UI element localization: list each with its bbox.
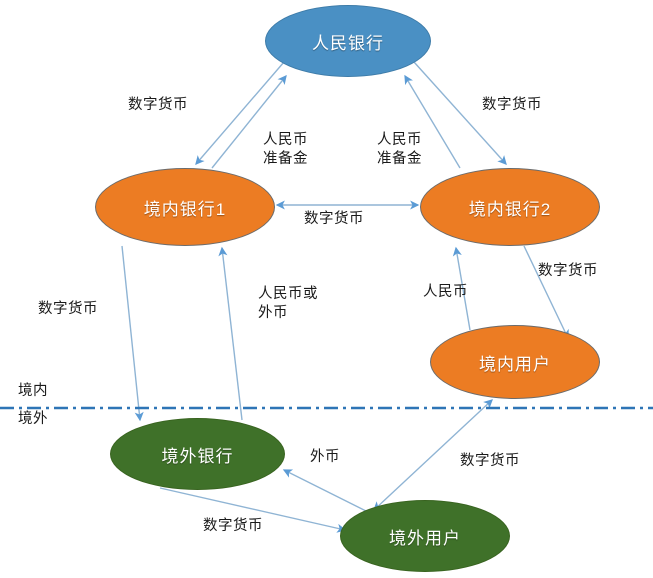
node-overseas-bank[interactable]: 境外银行 <box>110 418 285 490</box>
connector-e10 <box>284 470 368 512</box>
node-label: 境外用户 <box>389 524 461 549</box>
edge-label-e4: 数字货币 <box>482 96 542 115</box>
node-label: 境内用户 <box>479 350 551 375</box>
edge-label-e8: 人民币 <box>423 283 468 302</box>
node-label: 境内银行2 <box>469 195 551 220</box>
edge-label-e2: 人民币 准备金 <box>263 131 308 169</box>
edge-label-e7: 人民币或 外币 <box>258 285 318 323</box>
edge-label-e11: 数字货币 <box>203 517 263 536</box>
divider-label-overseas: 境外 <box>18 410 48 429</box>
diagram-connectors <box>0 0 653 578</box>
edge-label-e6: 数字货币 <box>38 300 98 319</box>
edge-label-e10: 外币 <box>310 448 340 467</box>
edge-label-e9: 数字货币 <box>538 262 598 281</box>
diagram-canvas: 人民银行境内银行1境内银行2境内用户境外银行境外用户 数字货币人民币 准备金人民… <box>0 0 653 578</box>
node-domestic-bank-1[interactable]: 境内银行1 <box>95 168 275 246</box>
node-overseas-user[interactable]: 境外用户 <box>340 500 510 572</box>
node-label: 境外银行 <box>162 442 234 467</box>
connector-e7 <box>222 248 242 420</box>
edge-label-e12: 数字货币 <box>460 452 520 471</box>
edge-label-e1: 数字货币 <box>128 96 188 115</box>
edge-label-e5: 数字货币 <box>304 210 364 229</box>
connector-e9 <box>524 246 568 338</box>
node-pboc[interactable]: 人民银行 <box>265 5 431 77</box>
divider-label-domestic: 境内 <box>18 382 48 401</box>
node-label: 境内银行1 <box>144 195 226 220</box>
node-domestic-bank-2[interactable]: 境内银行2 <box>420 168 600 246</box>
connector-e6 <box>122 246 140 420</box>
edge-label-e3: 人民币 准备金 <box>377 131 422 169</box>
node-domestic-user[interactable]: 境内用户 <box>430 325 600 399</box>
node-label: 人民银行 <box>312 29 384 54</box>
